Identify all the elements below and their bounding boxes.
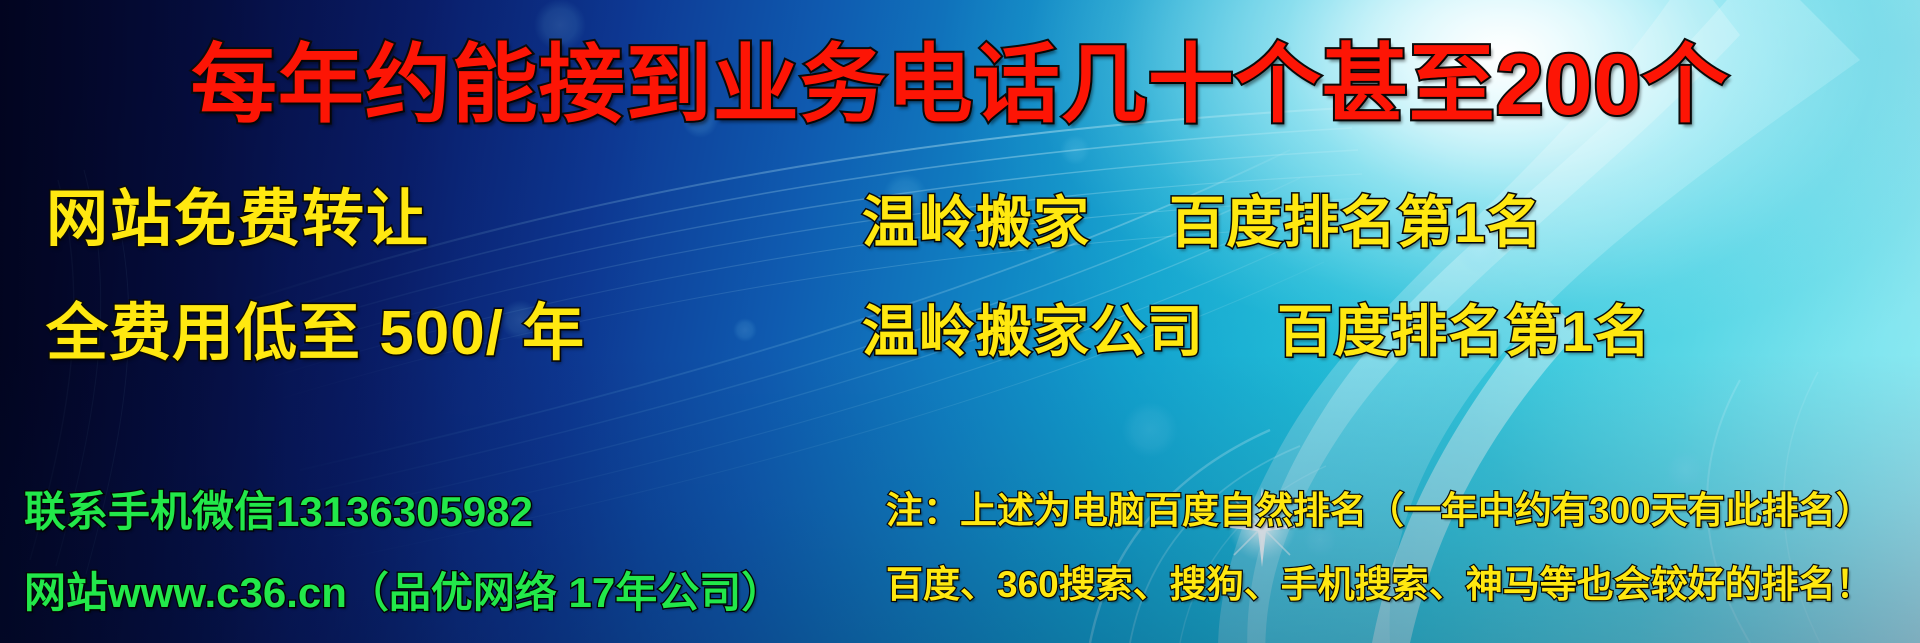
advertising-banner: 每年约能接到业务电话几十个甚至200个 网站免费转让 全费用低至 500/ 年 … [0, 0, 1920, 643]
offer-line-1: 网站免费转让 [46, 168, 706, 258]
ranking-keyword: 温岭搬家公司 [862, 300, 1204, 363]
offer-column: 网站免费转让 全费用低至 500/ 年 [46, 168, 706, 372]
contact-block: 联系手机微信13136305982 网站www.c36.cn（品优网络 17年公… [24, 478, 874, 620]
notes-block: 注：上述为电脑百度自然排名（一年中约有300天有此排名） 百度、360搜索、搜狗… [886, 480, 1920, 608]
ranking-result: 百度排名第1名 [1277, 300, 1651, 363]
note-line-1: 注：上述为电脑百度自然排名（一年中约有300天有此排名） [886, 480, 1920, 534]
contact-website-line: 网站www.c36.cn（品优网络 17年公司） [24, 559, 874, 620]
offer-line-2: 全费用低至 500/ 年 [46, 282, 706, 372]
ranking-column: 温岭搬家 百度排名第1名 温岭搬家公司 百度排名第1名 [862, 178, 1920, 368]
ranking-row: 温岭搬家 百度排名第1名 [862, 178, 1920, 259]
ranking-keyword: 温岭搬家 [862, 191, 1090, 254]
contact-phone-line: 联系手机微信13136305982 [24, 478, 874, 539]
ranking-result: 百度排名第1名 [1169, 191, 1543, 254]
ranking-row: 温岭搬家公司 百度排名第1名 [862, 287, 1920, 368]
note-line-2: 百度、360搜索、搜狗、手机搜索、神马等也会较好的排名！ [886, 554, 1920, 608]
headline-text: 每年约能接到业务电话几十个甚至200个 [0, 14, 1920, 139]
